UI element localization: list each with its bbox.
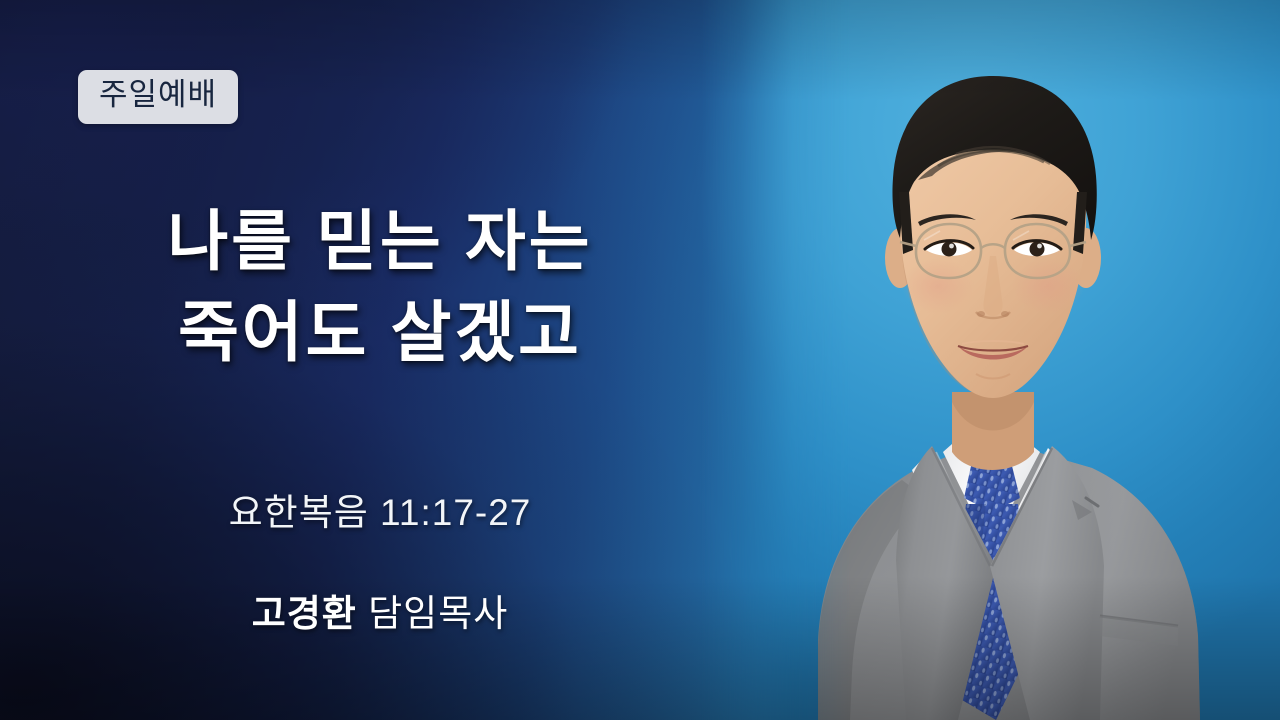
service-type-badge: 주일예배 xyxy=(78,70,238,124)
sermon-title-line-1: 나를 믿는 자는 xyxy=(0,196,760,287)
speaker-name: 고경환 xyxy=(252,593,357,634)
speaker-line: 고경환 담임목사 xyxy=(0,583,760,637)
speaker-role: 담임목사 xyxy=(357,593,508,634)
sermon-title-line-2: 죽어도 살겠고 xyxy=(0,287,760,378)
scripture-reference: 요한복음 11:17-27 xyxy=(0,482,760,536)
sermon-title: 나를 믿는 자는 죽어도 살겠고 xyxy=(0,196,760,378)
sermon-slide: 주일예배 나를 믿는 자는 죽어도 살겠고 요한복음 11:17-27 고경환 … xyxy=(0,0,1280,720)
